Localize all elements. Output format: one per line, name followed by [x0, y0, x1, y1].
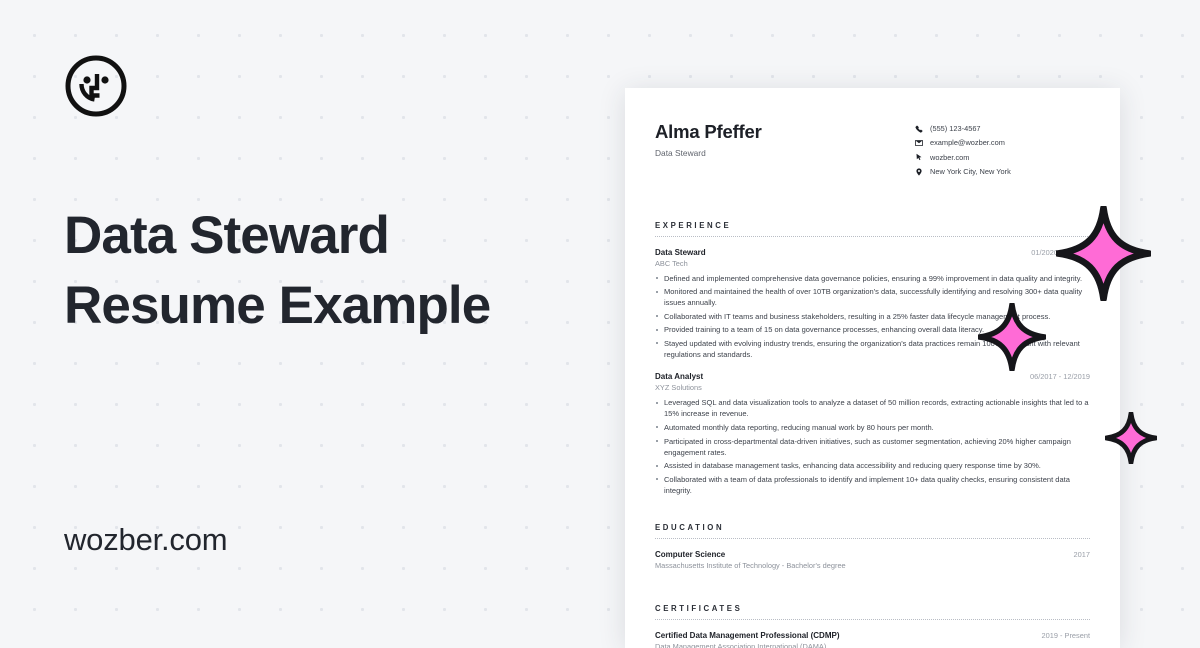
bullet-item: Assisted in database management tasks, e…: [655, 460, 1090, 471]
section-divider: [655, 236, 1090, 237]
bullet-item: Automated monthly data reporting, reduci…: [655, 422, 1090, 433]
sparkle-large: [1056, 206, 1151, 301]
experience-entry: Data Analyst 06/2017 - 12/2019 XYZ Solut…: [655, 372, 1090, 496]
page-title: Data Steward Resume Example: [64, 201, 620, 342]
wozber-smiley-logo: [64, 54, 620, 118]
experience-date: 06/2017 - 12/2019: [1030, 372, 1090, 381]
phone-icon: [915, 125, 923, 133]
contact-website-text: wozber.com: [930, 153, 969, 162]
experience-title: Data Steward: [655, 248, 706, 257]
contact-email: example@wozber.com: [915, 138, 1090, 147]
contact-location-text: New York City, New York: [930, 167, 1011, 176]
section-certificates: CERTIFICATES Certified Data Management P…: [655, 604, 1090, 648]
resume-header: Alma Pfeffer Data Steward (555) 123-4567…: [655, 121, 1090, 182]
experience-title: Data Analyst: [655, 372, 703, 381]
section-education: EDUCATION Computer Science 2017 Massachu…: [655, 523, 1090, 570]
headline-line-1: Data Steward: [64, 201, 620, 271]
section-title-certificates: CERTIFICATES: [655, 604, 1090, 619]
certificate-title: Certified Data Management Professional (…: [655, 631, 839, 640]
certificate-entry: Certified Data Management Professional (…: [655, 631, 1090, 648]
cursor-icon: [915, 153, 923, 161]
bullet-item: Collaborated with a team of data profess…: [655, 474, 1090, 496]
education-entry: Computer Science 2017 Massachusetts Inst…: [655, 550, 1090, 570]
bullet-item: Participated in cross-departmental data-…: [655, 436, 1090, 458]
experience-company: XYZ Solutions: [655, 383, 1090, 392]
education-date: 2017: [1074, 550, 1090, 559]
map-pin-icon: [915, 168, 923, 176]
headline-line-2: Resume Example: [64, 271, 620, 341]
bullet-item: Defined and implemented comprehensive da…: [655, 273, 1090, 284]
contact-phone-text: (555) 123-4567: [930, 124, 981, 133]
education-title: Computer Science: [655, 550, 725, 559]
section-title-education: EDUCATION: [655, 523, 1090, 538]
contact-location: New York City, New York: [915, 167, 1090, 176]
sparkle-medium: [978, 303, 1046, 371]
section-divider: [655, 538, 1090, 539]
contact-list: (555) 123-4567 example@wozber.com wozber…: [915, 124, 1090, 182]
smiley-logo-icon: [64, 54, 128, 118]
contact-website: wozber.com: [915, 153, 1090, 162]
resume-name: Alma Pfeffer: [655, 121, 762, 143]
certificate-date: 2019 - Present: [1042, 631, 1090, 640]
promo-panel: Data Steward Resume Example wozber.com: [0, 0, 620, 630]
education-school: Massachusetts Institute of Technology - …: [655, 561, 1090, 570]
resume-role: Data Steward: [655, 148, 762, 158]
contact-phone: (555) 123-4567: [915, 124, 1090, 133]
site-url: wozber.com: [64, 522, 227, 558]
section-title-experience: EXPERIENCE: [655, 221, 1090, 236]
certificate-issuer: Data Management Association Internationa…: [655, 642, 1090, 648]
envelope-icon: [915, 139, 923, 147]
sparkle-small: [1105, 412, 1157, 464]
resume-identity: Alma Pfeffer Data Steward: [655, 121, 762, 158]
experience-bullets: Leveraged SQL and data visualization too…: [655, 397, 1090, 496]
section-divider: [655, 619, 1090, 620]
contact-email-text: example@wozber.com: [930, 138, 1005, 147]
bullet-item: Leveraged SQL and data visualization too…: [655, 397, 1090, 419]
experience-company: ABC Tech: [655, 259, 1090, 268]
